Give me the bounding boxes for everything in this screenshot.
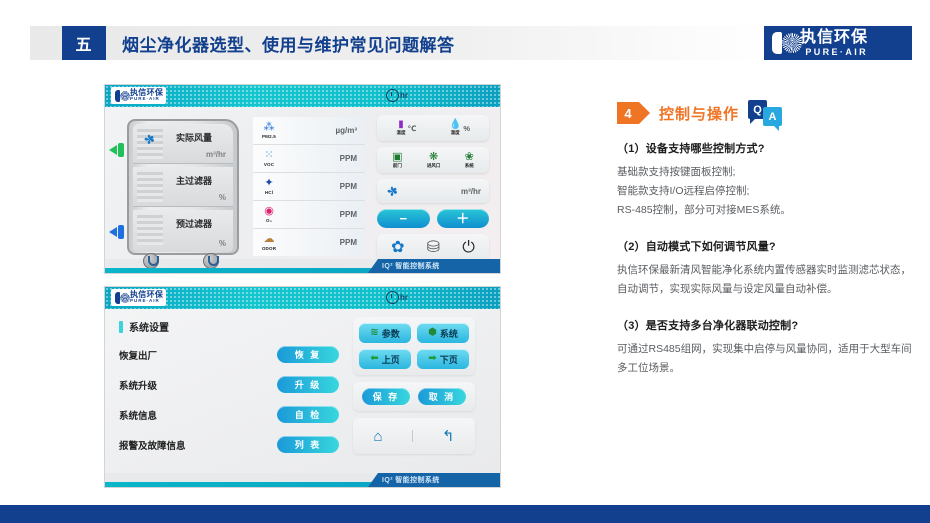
page-title: 烟尘净化器选型、使用与维护常见问题解答 xyxy=(122,26,455,60)
machine-unit-pre-filter: % xyxy=(219,239,226,248)
hmi-footer: IQ² 智能控制系统 xyxy=(105,259,500,273)
sensor-unit-odor: PPM xyxy=(282,238,365,247)
sensor-row-voc[interactable]: ⁙ VOC PPM xyxy=(253,145,365,173)
save-button[interactable]: 保 存 xyxy=(362,388,410,405)
machine-unit-main-filter: % xyxy=(219,193,226,202)
factory-reset-button[interactable]: 恢 复 xyxy=(277,346,339,363)
machine-row-airflow[interactable]: 实际风量 m³/hr xyxy=(133,124,233,164)
water-drop-icon: 💧 湿度 xyxy=(449,120,461,136)
back-icon[interactable]: ↰ xyxy=(442,429,455,444)
hmi-settings-screenshot: 执信环保 PURE·AIR hr 系统设置 恢复出厂 恢 复 系统升级 升 级 xyxy=(105,287,500,487)
machine-label-main-filter: 主过滤器 xyxy=(161,174,227,187)
slide-footer-bar xyxy=(0,505,930,523)
temperature-label: 温度 xyxy=(396,130,405,136)
machine-row-pre-filter[interactable]: 预过滤器 % xyxy=(133,210,233,252)
home-back-group: ⌂ ↰ xyxy=(353,418,475,454)
ozone-icon: ◉ O₃ xyxy=(256,206,282,223)
temperature-readout[interactable]: ▮ 温度 ℃ xyxy=(380,120,433,136)
temperature-unit: ℃ xyxy=(407,124,416,133)
system-label: 系统 xyxy=(440,327,458,340)
hmi-control-column: ▮ 温度 ℃ 💧 湿度 % ▣ 前门 xyxy=(377,115,489,268)
increase-button[interactable]: ＋ xyxy=(437,209,490,228)
hmi-settings-logo: 执信环保 PURE·AIR xyxy=(111,289,166,306)
setting-row-alarm-info: 报警及故障信息 列 表 xyxy=(119,436,339,453)
settings-runtime-indicator: hr xyxy=(386,291,408,304)
airflow-unit: m³/hr xyxy=(461,187,481,196)
faq-section-number: 4 xyxy=(617,102,639,124)
hmi-titlebar: 执信环保 PURE·AIR hr xyxy=(105,85,500,107)
air-inlet-arrow-icon xyxy=(109,225,124,239)
clock-icon xyxy=(386,89,399,102)
machine-diagram: 实际风量 m³/hr 主过滤器 % 预过滤器 % xyxy=(127,119,239,269)
faq-block: （3）是否支持多台净化器联动控制? 可通过RS485组网，实现集中启停与风量协同… xyxy=(617,317,917,378)
air-inlet-label: 进风口 xyxy=(427,163,441,169)
humidity-unit: % xyxy=(463,124,470,133)
humidity-readout[interactable]: 💧 湿度 % xyxy=(433,120,486,136)
parameters-button[interactable]: ≋ 参数 xyxy=(359,323,411,343)
faq-question: （3）是否支持多台净化器联动控制? xyxy=(617,317,917,333)
slide-header: 五 烟尘净化器选型、使用与维护常见问题解答 xyxy=(30,26,770,60)
faq-section-title: 控制与操作 xyxy=(659,103,739,124)
faq-answer: 可通过RS485组网，实现集中启停与风量协同，适用于大型车间多工位场景。 xyxy=(617,340,917,378)
setting-row-system-info: 系统信息 自 检 xyxy=(119,406,339,423)
arrow-right-icon: ➡ xyxy=(428,354,436,364)
previous-page-label: 上页 xyxy=(382,353,400,366)
faq-content: 4 控制与操作 Q A （1）设备支持哪些控制方式? 基础款支持按键面板控制; … xyxy=(617,100,917,396)
hexagon-gear-icon: ⬢ xyxy=(428,328,437,338)
runtime-hours-indicator: hr xyxy=(386,89,408,102)
hmi-logo-en: PURE·AIR xyxy=(130,97,163,102)
machine-body: 实际风量 m³/hr 主过滤器 % 预过滤器 % xyxy=(127,119,239,255)
setting-row-factory-reset: 恢复出厂 恢 复 xyxy=(119,346,339,363)
next-page-label: 下页 xyxy=(440,353,458,366)
machine-label-airflow: 实际风量 xyxy=(161,131,227,144)
machine-unit-airflow: m³/hr xyxy=(206,150,226,159)
humidity-label: 湿度 xyxy=(451,130,460,136)
sensor-row-o3[interactable]: ◉ O₃ PPM xyxy=(253,201,365,229)
sliders-icon: ≋ xyxy=(370,328,378,338)
sensor-row-odor[interactable]: ☁ ODOR PPM xyxy=(253,229,365,256)
sensor-name-hcl: HCl xyxy=(265,190,273,195)
system-upgrade-button[interactable]: 升 级 xyxy=(277,376,339,393)
logo-mark-icon xyxy=(770,30,796,56)
environment-readouts: ▮ 温度 ℃ 💧 湿度 % xyxy=(377,115,489,141)
sensor-name-voc: VOC xyxy=(264,162,274,167)
save-cancel-group: 保 存 取 消 xyxy=(353,382,475,411)
parameters-label: 参数 xyxy=(382,327,400,340)
hmi-settings-footer-tag: IQ² 智能控制系统 xyxy=(368,473,500,487)
front-door-status[interactable]: ▣ 前门 xyxy=(392,152,402,169)
sensor-list: ⁂ PM2.5 µg/m³ ⁙ VOC PPM ✦ HCl PPM xyxy=(253,117,365,256)
runtime-unit: hr xyxy=(400,91,408,100)
faq-block: （2）自动模式下如何调节风量? 执信环保最新清风智能净化系统内置传感器实时监测滤… xyxy=(617,238,917,299)
front-door-label: 前门 xyxy=(393,163,402,169)
system-status[interactable]: ❀ 系统 xyxy=(465,152,474,169)
setting-label-factory-reset: 恢复出厂 xyxy=(119,348,277,362)
machine-row-main-filter[interactable]: 主过滤器 % xyxy=(133,167,233,207)
settings-section-title: 系统设置 xyxy=(119,319,339,334)
decrease-button[interactable]: − xyxy=(377,209,430,228)
alarm-list-button[interactable]: 列 表 xyxy=(277,436,339,453)
airflow-setpoint-row: m³/hr xyxy=(377,179,489,203)
air-outlet-arrow-icon xyxy=(109,143,124,157)
hmi-logo-mark-icon xyxy=(114,89,128,103)
filter-cartridge-icon[interactable]: ⛁ xyxy=(427,240,440,256)
hmi-action-bar: ✿ ⛁ ⏻ xyxy=(377,234,489,262)
previous-page-button[interactable]: ⬅ 上页 xyxy=(359,349,411,369)
hmi-settings-logo-en: PURE·AIR xyxy=(130,299,163,304)
sensor-unit-o3: PPM xyxy=(282,210,365,219)
chevron-right-icon xyxy=(639,102,650,124)
setting-label-alarm-info: 报警及故障信息 xyxy=(119,438,277,452)
settings-nav-group: ≋ 参数 ⬢ 系统 ⬅ 上页 ➡ 下页 xyxy=(353,317,475,375)
faq-question: （2）自动模式下如何调节风量? xyxy=(617,238,917,254)
faq-block: （1）设备支持哪些控制方式? 基础款支持按键面板控制; 智能款支持I/O远程启停… xyxy=(617,140,917,220)
settings-control-column: ≋ 参数 ⬢ 系统 ⬅ 上页 ➡ 下页 xyxy=(353,317,475,461)
logo-name-cn: 执信环保 xyxy=(800,30,868,46)
faq-answer: 基础款支持按键面板控制; 智能款支持I/O远程启停控制; RS-485控制，部分… xyxy=(617,163,917,220)
settings-section-title-text: 系统设置 xyxy=(129,319,169,334)
settings-list: 系统设置 恢复出厂 恢 复 系统升级 升 级 系统信息 自 检 报警及故障信息 … xyxy=(119,319,339,466)
pm25-icon: ⁂ PM2.5 xyxy=(256,122,282,139)
status-indicators: ▣ 前门 ❋ 进风口 ❀ 系统 xyxy=(377,147,489,173)
system-selftest-button[interactable]: 自 检 xyxy=(277,406,339,423)
sensor-unit-hcl: PPM xyxy=(282,182,365,191)
hmi-main-screenshot: 执信环保 PURE·AIR hr xyxy=(105,85,500,273)
hcl-icon: ✦ HCl xyxy=(256,178,282,195)
hmi-main-body: 实际风量 m³/hr 主过滤器 % 预过滤器 % xyxy=(105,107,500,259)
hmi-settings-footer: IQ² 智能控制系统 xyxy=(105,473,500,487)
hmi-footer-tag: IQ² 智能控制系统 xyxy=(368,259,500,273)
setting-label-system-upgrade: 系统升级 xyxy=(119,378,277,392)
hmi-settings-logo-mark-icon xyxy=(114,291,128,305)
hmi-logo: 执信环保 PURE·AIR xyxy=(111,87,166,104)
faq-section-header: 4 控制与操作 Q A xyxy=(617,100,917,126)
qa-icon: Q A xyxy=(748,100,782,126)
divider xyxy=(412,430,413,442)
faq-answer: 执信环保最新清风智能净化系统内置传感器实时监测滤芯状态，自动调节，实现实际风量与… xyxy=(617,261,917,299)
sensor-name-pm25: PM2.5 xyxy=(262,134,276,139)
cancel-button[interactable]: 取 消 xyxy=(418,388,466,405)
hmi-settings-titlebar: 执信环保 PURE·AIR hr xyxy=(105,287,500,309)
answer-bubble-icon: A xyxy=(763,107,782,126)
hmi-settings-body: 系统设置 恢复出厂 恢 复 系统升级 升 级 系统信息 自 检 报警及故障信息 … xyxy=(105,309,500,473)
section-number-badge: 五 xyxy=(62,26,106,60)
power-icon[interactable]: ⏻ xyxy=(462,240,475,256)
fan-icon xyxy=(385,184,400,199)
sensor-row-hcl[interactable]: ✦ HCl PPM xyxy=(253,173,365,201)
system-button[interactable]: ⬢ 系统 xyxy=(417,323,469,343)
thermometer-icon: ▮ 温度 xyxy=(396,120,405,136)
next-page-button[interactable]: ➡ 下页 xyxy=(417,349,469,369)
machine-label-pre-filter: 预过滤器 xyxy=(161,217,227,230)
sensor-name-odor: ODOR xyxy=(262,246,276,251)
arrow-left-icon: ⬅ xyxy=(370,354,378,364)
odor-icon: ☁ ODOR xyxy=(256,234,282,251)
setting-row-system-upgrade: 系统升级 升 级 xyxy=(119,376,339,393)
fan-icon xyxy=(142,132,157,147)
company-logo: 执信环保 PURE·AIR xyxy=(764,26,912,60)
settings-runtime-unit: hr xyxy=(400,293,408,302)
faq-question: （1）设备支持哪些控制方式? xyxy=(617,140,917,156)
airflow-stepper: − ＋ xyxy=(377,209,489,228)
system-label: 系统 xyxy=(465,163,474,169)
gear-icon[interactable]: ✿ xyxy=(391,240,404,256)
home-icon[interactable]: ⌂ xyxy=(374,429,383,444)
clock-icon xyxy=(386,291,399,304)
voc-icon: ⁙ VOC xyxy=(256,150,282,167)
sensor-unit-pm25: µg/m³ xyxy=(282,126,365,135)
logo-name-en: PURE·AIR xyxy=(800,48,868,57)
sensor-name-o3: O₃ xyxy=(266,218,272,223)
sensor-row-pm25[interactable]: ⁂ PM2.5 µg/m³ xyxy=(253,117,365,145)
setting-label-system-info: 系统信息 xyxy=(119,408,277,422)
air-inlet-status[interactable]: ❋ 进风口 xyxy=(427,152,441,169)
sensor-unit-voc: PPM xyxy=(282,154,365,163)
